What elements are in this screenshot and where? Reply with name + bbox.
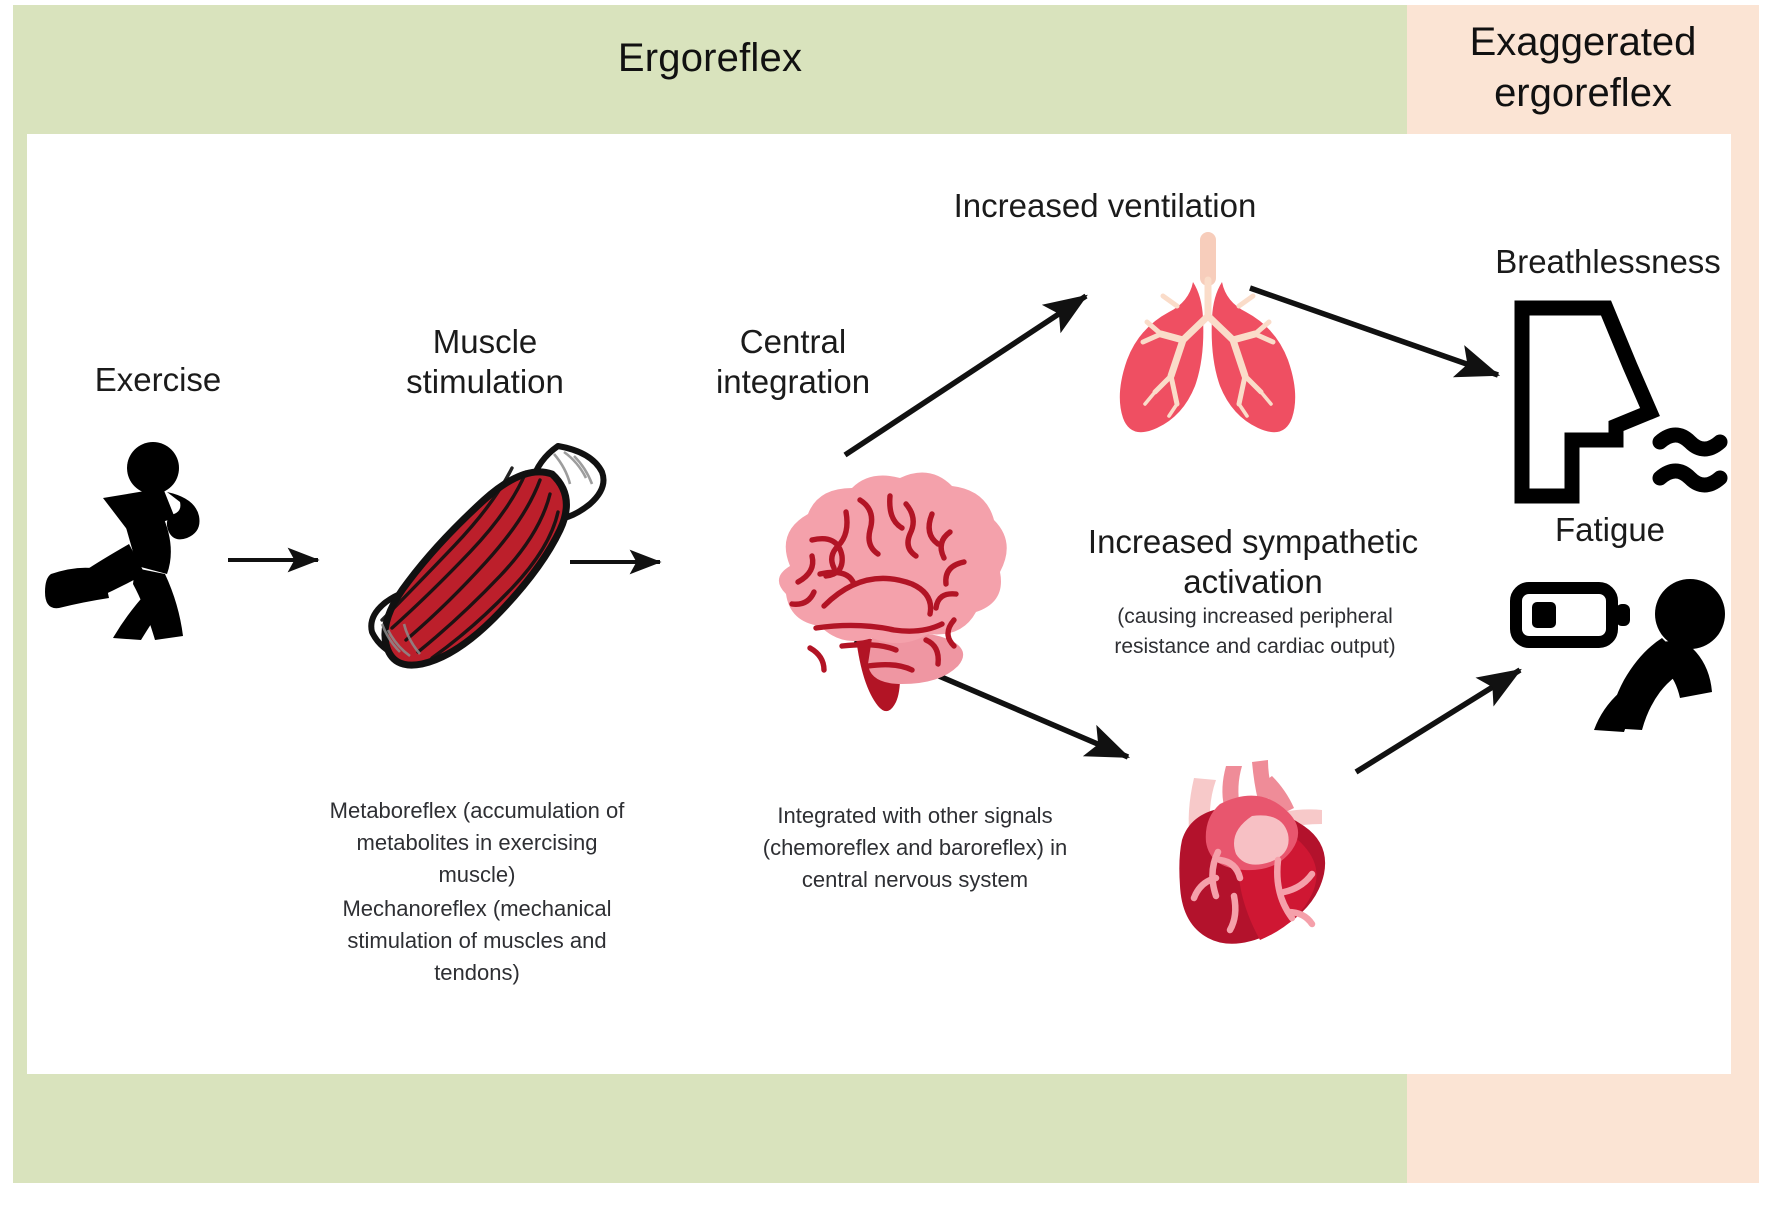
metaboreflex-note: Metaboreflex (accumulation of metabolite… — [318, 795, 636, 891]
breathing-head-profile-icon — [1510, 300, 1730, 500]
fatigue-label: Fatigue — [1470, 510, 1750, 550]
running-person-icon — [45, 440, 260, 640]
exercise-label: Exercise — [38, 360, 278, 400]
peripheral-resistance-note: (causing increased peripheral resistance… — [1060, 602, 1450, 663]
increased-ventilation-label: Increased ventilation — [925, 186, 1285, 226]
ergoreflex-band-title: Ergoreflex — [13, 36, 1407, 81]
low-battery-tired-person-icon — [1512, 572, 1762, 732]
central-nervous-system-note: Integrated with other signals (chemorefl… — [740, 800, 1090, 896]
brain-icon — [750, 470, 1010, 710]
increased-sympathetic-activation-label: Increased sympathetic activation — [1068, 522, 1438, 603]
central-integration-label: Central integration — [668, 322, 918, 403]
muscle-stimulation-label: Muscle stimulation — [355, 322, 615, 403]
ergoreflex-figure: Ergoreflex Exaggerated ergoreflex Exerci… — [0, 0, 1772, 1218]
breathlessness-label: Breathlessness — [1448, 242, 1768, 282]
skeletal-muscle-icon — [350, 440, 620, 670]
heart-icon — [1160, 760, 1350, 945]
lungs-icon — [1105, 230, 1310, 430]
mechanoreflex-note: Mechanoreflex (mechanical stimulation of… — [318, 893, 636, 989]
exaggerated-ergoreflex-band-title: Exaggerated ergoreflex — [1407, 17, 1759, 119]
